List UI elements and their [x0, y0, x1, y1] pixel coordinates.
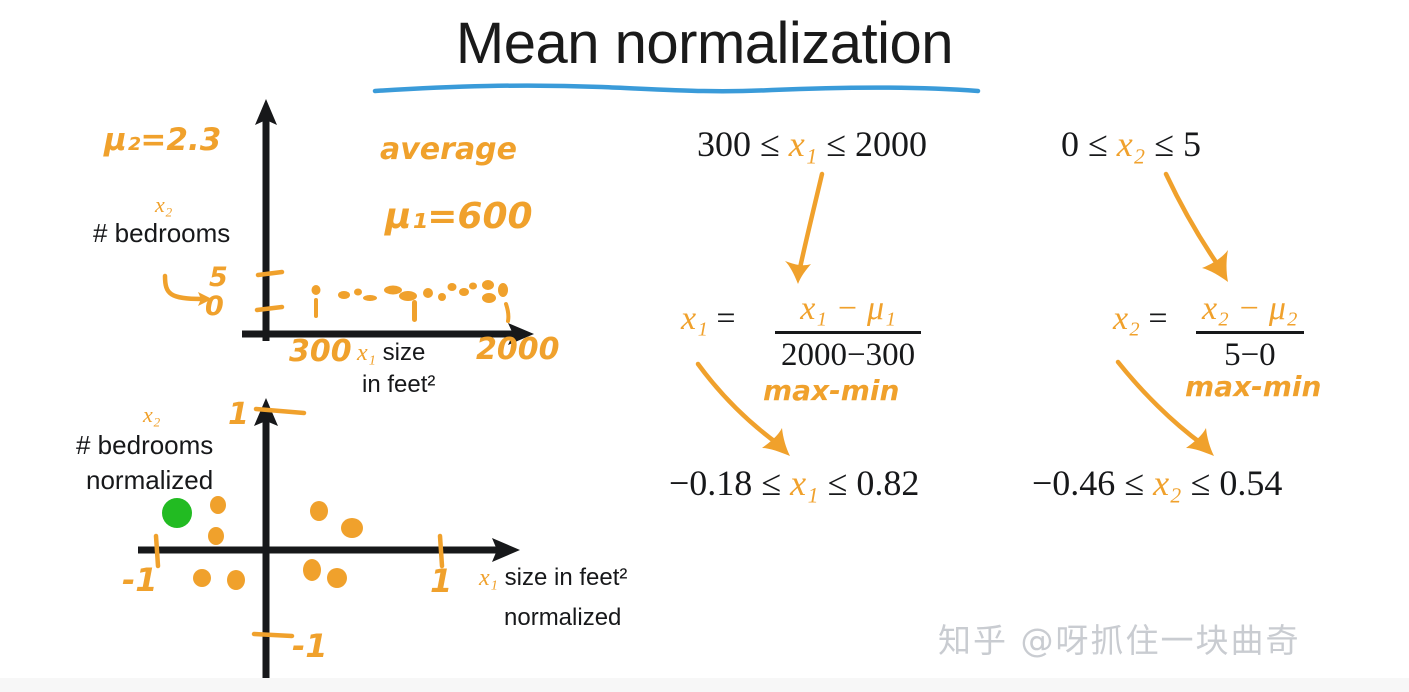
x2-arrow-down-2-icon	[1110, 356, 1270, 468]
average-note: average	[380, 132, 517, 167]
watermark: 知乎 @呀抓住一块曲奇	[938, 614, 1301, 662]
slide-canvas: Mean normalization	[0, 0, 1409, 692]
x2-equation-lhs: x₂ =	[1113, 300, 1168, 338]
plot-bottom-y-label-line1: # bedrooms	[76, 430, 213, 461]
highlighted-point	[162, 498, 192, 528]
fraction-bar	[775, 331, 921, 334]
x1-arrow-down-2-icon	[690, 358, 850, 468]
plot-bottom-x-label-line2: normalized	[504, 604, 621, 632]
plot-top-x-label-line1: x₁ size	[357, 339, 425, 367]
plot-bottom-x-tick-neg: -1	[122, 561, 158, 599]
plot-top-tick-5: 5	[209, 262, 228, 293]
plot-top-x-var: x₁	[357, 340, 376, 366]
page-title: Mean normalization	[0, 10, 1409, 77]
plot-bottom-x-var: x₁	[479, 565, 498, 591]
plot-top-y-label: # bedrooms	[93, 218, 230, 249]
plot-bottom-y-label-line2: normalized	[86, 465, 213, 496]
bottom-strip	[0, 678, 1409, 692]
x2-range-result: −0.46 ≤ x₂ ≤ 0.54	[1032, 462, 1282, 504]
x1-arrow-down-icon	[770, 168, 860, 293]
x1-range-top: 300 ≤ x₁ ≤ 2000	[697, 123, 927, 165]
plot-bottom-y-tick-pos: 1	[228, 397, 249, 432]
plot-bottom-y-var: x₂	[143, 402, 160, 428]
x1-range-result: −0.18 ≤ x₁ ≤ 0.82	[669, 462, 919, 504]
x2-arrow-down-icon	[1158, 168, 1268, 298]
x1-equation-lhs: x₁ =	[681, 300, 736, 338]
mu2-label: μ₂=2.3	[104, 122, 221, 158]
plot-top-tick-0: 0	[205, 291, 224, 322]
plot-top-x-tick-min: 300	[289, 334, 352, 369]
mu1-label: μ₁=600	[385, 196, 533, 237]
plot-top-x-tick-max: 2000	[476, 332, 560, 367]
plot-top-y-var: x₂	[155, 192, 172, 218]
plot-bottom-x-label-line1: x₁ size in feet²	[479, 564, 627, 592]
plot-top-scatter	[300, 272, 530, 332]
plot-bottom-x-tick-pos: 1	[430, 562, 452, 600]
x2-range-top: 0 ≤ x₂ ≤ 5	[1061, 123, 1201, 165]
plot-bottom-y-tick-neg: -1	[292, 627, 328, 665]
fraction-bar	[1196, 331, 1304, 334]
x2-numerator: x₂ − μ₂	[1196, 290, 1304, 328]
x1-numerator: x₁ − μ₁	[775, 290, 921, 328]
